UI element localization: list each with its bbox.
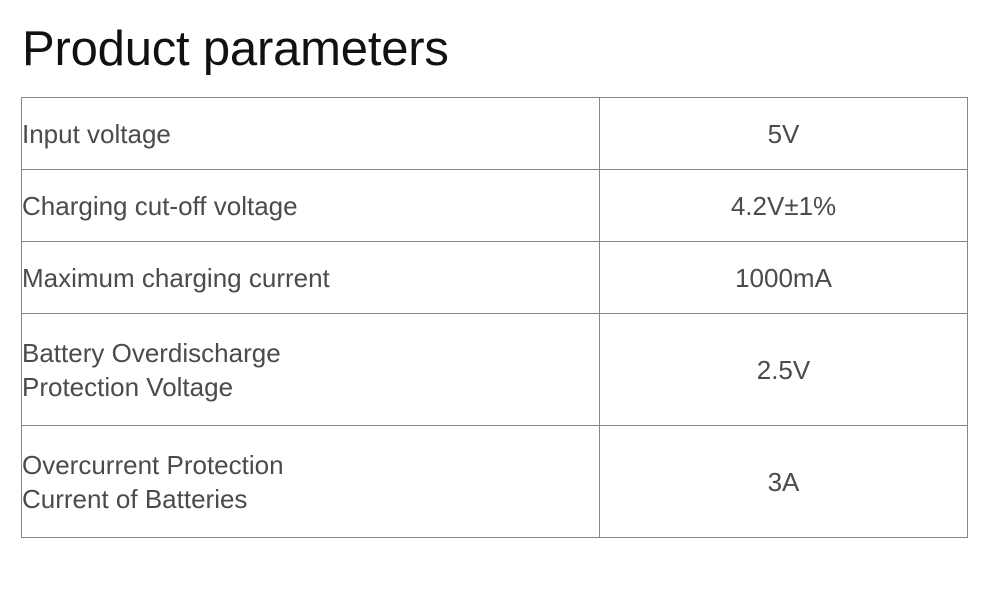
parameter-name-line: Overcurrent Protection: [22, 448, 599, 482]
parameter-value-cell: 3A: [600, 426, 968, 538]
parameter-value: 5V: [600, 117, 967, 151]
parameter-value-cell: 1000mA: [600, 242, 968, 314]
parameter-name-cell: Charging cut-off voltage: [22, 170, 600, 242]
parameter-name-cell: Battery Overdischarge Protection Voltage: [22, 314, 600, 426]
table-row: Input voltage 5V: [22, 98, 968, 170]
table-row: Maximum charging current 1000mA: [22, 242, 968, 314]
parameter-value-cell: 4.2V±1%: [600, 170, 968, 242]
table-row: Overcurrent Protection Current of Batter…: [22, 426, 968, 538]
parameter-name-line: Input voltage: [22, 117, 599, 151]
parameter-value: 4.2V±1%: [600, 189, 967, 223]
table-row: Battery Overdischarge Protection Voltage…: [22, 314, 968, 426]
table-row: Charging cut-off voltage 4.2V±1%: [22, 170, 968, 242]
parameter-name-cell: Overcurrent Protection Current of Batter…: [22, 426, 600, 538]
parameter-value: 3A: [600, 465, 967, 499]
specifications-table-body: Input voltage 5V Charging cut-off voltag…: [22, 98, 968, 538]
parameter-value: 1000mA: [600, 261, 967, 295]
parameter-name-cell: Input voltage: [22, 98, 600, 170]
parameter-name-cell: Maximum charging current: [22, 242, 600, 314]
parameter-value-cell: 2.5V: [600, 314, 968, 426]
specifications-table: Input voltage 5V Charging cut-off voltag…: [21, 97, 968, 538]
parameter-value: 2.5V: [600, 353, 967, 387]
parameter-name-line: Protection Voltage: [22, 370, 599, 404]
parameter-name-line: Current of Batteries: [22, 482, 599, 516]
parameter-name-line: Maximum charging current: [22, 261, 599, 295]
parameter-name-line: Charging cut-off voltage: [22, 189, 599, 223]
page-title: Product parameters: [22, 18, 449, 80]
parameter-name-line: Battery Overdischarge: [22, 336, 599, 370]
parameter-value-cell: 5V: [600, 98, 968, 170]
product-parameters-page: Product parameters Input voltage 5V Char…: [0, 0, 1000, 605]
